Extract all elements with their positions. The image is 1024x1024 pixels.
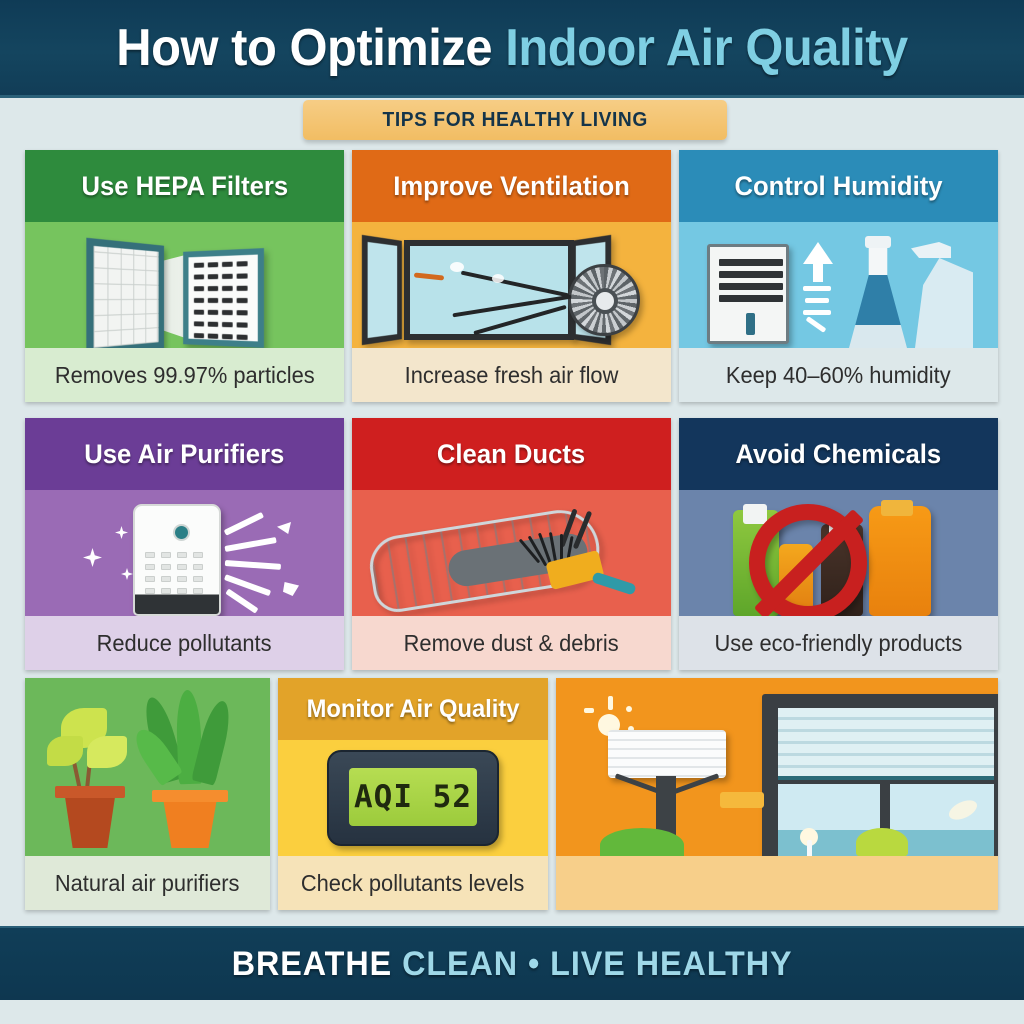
tip-card-avoid-chemicals[interactable]: Avoid Chemicals Use eco-friendly product… — [679, 418, 998, 670]
tip-card-title: Avoid Chemicals — [736, 439, 942, 470]
tip-card-illustration — [25, 678, 270, 856]
tip-card-caption-text: Check pollutants levels — [301, 870, 524, 897]
tip-card-header: Use Air Purifiers — [25, 418, 344, 490]
air-purifier-icon — [25, 490, 344, 616]
tip-card-illustration — [25, 490, 344, 616]
tip-card-caption-text: Use eco-friendly products — [715, 630, 963, 657]
page-title: How to Optimize Indoor Air Quality — [116, 22, 907, 74]
tip-card-caption — [556, 856, 998, 910]
dehumidifier-icon — [679, 222, 998, 348]
subtitle-badge: TIPS FOR HEALTHY LIVING — [303, 100, 727, 140]
tip-card-header: Monitor Air Quality — [278, 678, 548, 740]
tip-card-monitor-air-quality[interactable]: Monitor Air Quality AQI 52 Check polluta… — [278, 678, 548, 910]
tip-card-header: Improve Ventilation — [352, 150, 671, 222]
tip-card-caption: Check pollutants levels — [278, 856, 548, 910]
tip-card-title: Clean Ducts — [437, 439, 585, 470]
tip-card-caption-text: Natural air purifiers — [55, 870, 240, 897]
tip-card-illustration — [352, 222, 671, 348]
tip-card-title: Control Humidity — [734, 171, 942, 202]
tip-card-header: Clean Ducts — [352, 418, 671, 490]
tip-card-title: Use HEPA Filters — [81, 171, 288, 202]
tip-card-use-air-purifiers[interactable]: Use Air Purifiers — [25, 418, 344, 670]
footer-tagline-part-1: BREATHE — [232, 945, 392, 983]
tip-card-improve-ventilation[interactable]: Improve Ventilation Increase fresh air f… — [352, 150, 671, 402]
air-duct-brush-icon — [352, 490, 671, 616]
tip-card-control-humidity[interactable]: Control Humidity Keep 40–60% humidity — [679, 150, 998, 402]
tip-card-title: Use Air Purifiers — [84, 439, 284, 470]
tip-card-illustration — [352, 490, 671, 616]
tip-card-ac-window[interactable] — [556, 678, 998, 910]
tip-card-caption: Remove dust & debris — [352, 616, 671, 670]
tip-card-illustration — [25, 222, 344, 348]
tip-card-caption: Keep 40–60% humidity — [679, 348, 998, 402]
aqi-display: AQI 52 — [349, 768, 477, 826]
tip-card-clean-ducts[interactable]: Clean Ducts Remove dust & debris — [352, 418, 671, 670]
tip-card-caption-text: Remove dust & debris — [404, 630, 619, 657]
tip-card-header: Control Humidity — [679, 150, 998, 222]
tip-card-caption-text: Reduce pollutants — [97, 630, 272, 657]
tip-card-caption-text: Keep 40–60% humidity — [726, 362, 951, 389]
open-window-fan-icon — [352, 222, 671, 348]
hepa-filter-icon — [25, 222, 344, 348]
tip-card-caption: Reduce pollutants — [25, 616, 344, 670]
footer-tagline: BREATHE CLEAN • LIVE HEALTHY — [232, 945, 793, 984]
tip-card-header: Avoid Chemicals — [679, 418, 998, 490]
tip-card-illustration — [679, 222, 998, 348]
potted-plants-icon — [25, 678, 270, 856]
tip-card-illustration — [556, 678, 998, 856]
page-title-part-1: How to Optimize — [116, 19, 492, 77]
ac-unit-window-icon — [556, 678, 998, 856]
tip-card-caption-text: Increase fresh air flow — [405, 362, 619, 389]
tip-card-header: Use HEPA Filters — [25, 150, 344, 222]
page-header-band: How to Optimize Indoor Air Quality — [0, 0, 1024, 98]
page-title-part-2: Indoor Air Quality — [505, 19, 908, 77]
tip-card-caption: Removes 99.97% particles — [25, 348, 344, 402]
page-footer-band: BREATHE CLEAN • LIVE HEALTHY — [0, 926, 1024, 1000]
tip-card-caption-text: Removes 99.97% particles — [55, 362, 315, 389]
footer-tagline-part-2: CLEAN • LIVE HEALTHY — [402, 945, 792, 983]
subtitle-badge-label: TIPS FOR HEALTHY LIVING — [382, 109, 647, 132]
air-quality-monitor-icon: AQI 52 — [278, 740, 548, 856]
tip-card-hepa-filters[interactable]: Use HEPA Filters Removes 99.97% particle… — [25, 150, 344, 402]
no-chemicals-icon — [679, 490, 998, 616]
tip-card-illustration: AQI 52 — [278, 740, 548, 856]
tip-card-caption: Increase fresh air flow — [352, 348, 671, 402]
tip-card-title: Monitor Air Quality — [307, 695, 520, 724]
tip-card-natural-plants[interactable]: Natural air purifiers — [25, 678, 270, 910]
tip-card-illustration — [679, 490, 998, 616]
aqi-display-value: AQI 52 — [354, 779, 472, 815]
tip-card-title: Improve Ventilation — [393, 171, 630, 202]
tip-card-caption: Use eco-friendly products — [679, 616, 998, 670]
tip-card-caption: Natural air purifiers — [25, 856, 270, 910]
